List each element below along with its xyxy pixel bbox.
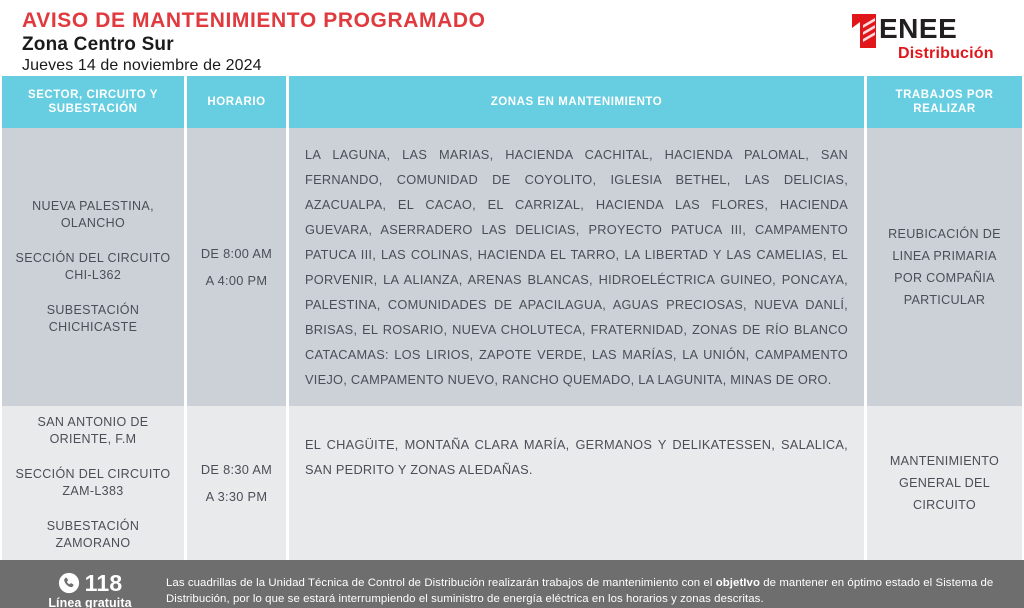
maintenance-notice-poster: AVISO DE MANTENIMIENTO PROGRAMADO Zona C…: [0, 0, 1024, 608]
phone-icon: [58, 572, 80, 594]
poster-header: AVISO DE MANTENIMIENTO PROGRAMADO Zona C…: [0, 0, 1024, 76]
column-header-sector: SECTOR, CIRCUITO Y SUBESTACIÓN: [2, 76, 184, 128]
cell-horario: DE 8:00 AM A 4:00 PM: [187, 128, 286, 406]
sector-name: SAN ANTONIO DE ORIENTE, F.M: [12, 414, 174, 448]
disclaimer-bold: objetIvo: [716, 577, 760, 589]
table-header-row: SECTOR, CIRCUITO Y SUBESTACIÓN HORARIO Z…: [0, 76, 1024, 128]
table-body: NUEVA PALESTINA, OLANCHO SECCIÓN DEL CIR…: [0, 128, 1024, 560]
column-header-trabajos: TRABAJOS POR REALIZAR: [867, 76, 1022, 128]
footer-disclaimer: Las cuadrillas de la Unidad Técnica de C…: [162, 575, 1010, 608]
svg-text:Distribución: Distribución: [898, 45, 994, 62]
horario-from: DE 8:30 AM: [201, 456, 272, 483]
enee-logo: ENEE Distribución: [846, 8, 1006, 64]
sector-substation: SUBESTACIÓN ZAMORANO: [12, 518, 174, 552]
disclaimer-part-1: Las cuadrillas de la Unidad Técnica de C…: [166, 577, 716, 589]
trabajos-text: MANTENIMIENTO GENERAL DEL CIRCUITO: [877, 450, 1012, 516]
column-header-horario: HORARIO: [187, 76, 286, 128]
cell-horario: DE 8:30 AM A 3:30 PM: [187, 406, 286, 560]
horario-to: A 4:00 PM: [201, 267, 272, 294]
horario-to: A 3:30 PM: [201, 483, 272, 510]
cell-trabajos: REUBICACIÓN DE LINEA PRIMARIA POR COMPAÑ…: [867, 128, 1022, 406]
phone-label: Línea gratuita: [48, 595, 131, 608]
maintenance-table: SECTOR, CIRCUITO Y SUBESTACIÓN HORARIO Z…: [0, 76, 1024, 560]
enee-logo-icon: ENEE Distribución: [846, 8, 1006, 64]
cell-zonas: LA LAGUNA, LAS MARIAS, HACIENDA CACHITAL…: [289, 128, 864, 406]
sector-section: SECCIÓN DEL CIRCUITO CHI-L362: [12, 250, 174, 284]
trabajos-text: REUBICACIÓN DE LINEA PRIMARIA POR COMPAÑ…: [877, 223, 1012, 311]
horario-from: DE 8:00 AM: [201, 240, 272, 267]
column-header-zonas: ZONAS EN MANTENIMIENTO: [289, 76, 864, 128]
phone-number: 118: [85, 571, 123, 595]
cell-sector: NUEVA PALESTINA, OLANCHO SECCIÓN DEL CIR…: [2, 128, 184, 406]
svg-text:ENEE: ENEE: [879, 13, 957, 44]
sector-substation: SUBESTACIÓN CHICHICASTE: [12, 302, 174, 336]
table-row: NUEVA PALESTINA, OLANCHO SECCIÓN DEL CIR…: [0, 128, 1024, 406]
table-row: SAN ANTONIO DE ORIENTE, F.M SECCIÓN DEL …: [0, 406, 1024, 560]
sector-name: NUEVA PALESTINA, OLANCHO: [12, 198, 174, 232]
poster-footer: 118 Línea gratuita Las cuadrillas de la …: [0, 560, 1024, 608]
sector-section: SECCIÓN DEL CIRCUITO ZAM-L383: [12, 466, 174, 500]
cell-zonas: EL CHAGÜITE, MONTAÑA CLARA MARÍA, GERMAN…: [289, 406, 864, 560]
cell-trabajos: MANTENIMIENTO GENERAL DEL CIRCUITO: [867, 406, 1022, 560]
free-line-block: 118 Línea gratuita: [34, 571, 146, 608]
cell-sector: SAN ANTONIO DE ORIENTE, F.M SECCIÓN DEL …: [2, 406, 184, 560]
